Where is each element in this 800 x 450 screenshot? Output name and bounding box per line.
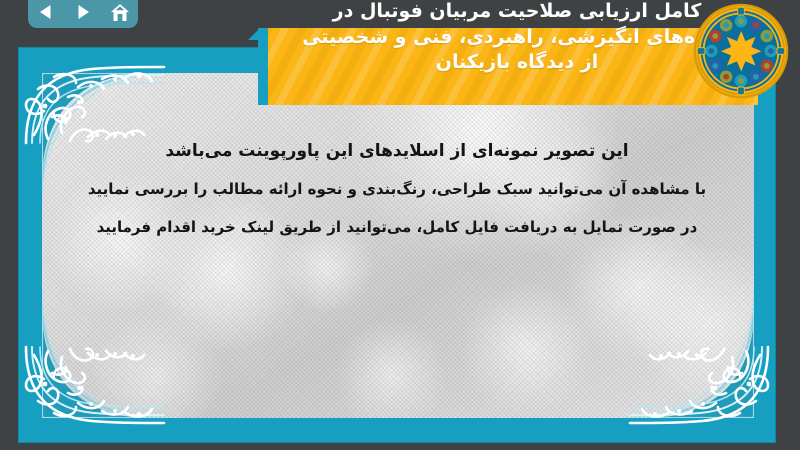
slide-viewer-stage: این تصویر نمونه‌ای از اسلایدهای این پاور… — [0, 0, 800, 450]
slide-body-line: با مشاهده آن می‌توانید سبک طراحی، رنگ‌بن… — [60, 170, 734, 208]
home-button[interactable] — [107, 0, 133, 24]
next-arrow-icon — [74, 3, 92, 21]
banner-teal-edge — [258, 28, 268, 105]
slide-body-text: این تصویر نمونه‌ای از اسلایدهای این پاور… — [60, 132, 734, 246]
next-button[interactable] — [70, 0, 96, 24]
title-banner — [258, 28, 758, 105]
previous-button[interactable] — [33, 0, 59, 24]
slide-body-line: در صورت تمایل به دریافت فایل کامل، می‌تو… — [60, 208, 734, 246]
persian-medallion-icon — [693, 3, 789, 99]
previous-arrow-icon — [37, 3, 55, 21]
navigation-toolbar[interactable] — [28, 0, 138, 28]
slide-body-line: این تصویر نمونه‌ای از اسلایدهای این پاور… — [60, 132, 734, 170]
slide-frame: این تصویر نمونه‌ای از اسلایدهای این پاور… — [18, 47, 776, 443]
home-icon — [110, 3, 130, 22]
